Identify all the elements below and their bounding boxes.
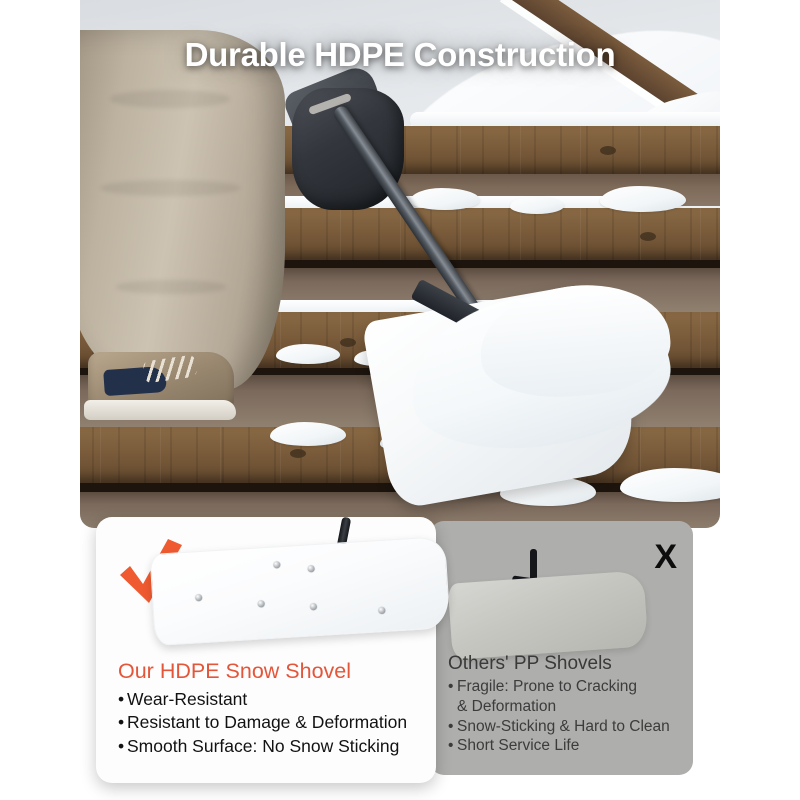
- ours-heading: Our HDPE Snow Shovel: [118, 659, 424, 684]
- others-bullet: •Fragile: Prone to Cracking: [448, 677, 681, 697]
- ours-text-block: Our HDPE Snow Shovel •Wear-Resistant •Re…: [118, 659, 424, 758]
- bullet-glyph: •: [448, 736, 457, 756]
- wood-knot: [290, 449, 306, 458]
- ours-bullet: •Resistant to Damage & Deformation: [118, 711, 424, 734]
- others-bullet-label: Snow-Sticking & Hard to Clean: [457, 718, 670, 735]
- blade-rivet: [195, 594, 202, 601]
- fabric-fold: [100, 180, 240, 196]
- snow-clump: [276, 344, 340, 364]
- ours-bullet-label: Smooth Surface: No Snow Sticking: [127, 736, 399, 756]
- ours-bullet-label: Resistant to Damage & Deformation: [127, 712, 407, 732]
- bullet-glyph: •: [448, 677, 457, 697]
- others-bullet-continuation: & Deformation: [448, 697, 681, 717]
- wood-knot: [340, 338, 356, 347]
- snow-clump: [620, 468, 720, 502]
- bullet-glyph: •: [118, 735, 127, 758]
- others-bullet-label: Short Service Life: [457, 737, 579, 754]
- x-mark-icon: X: [654, 540, 677, 574]
- snow-clump: [510, 196, 564, 214]
- others-bullet-label: Fragile: Prone to Cracking: [457, 678, 637, 695]
- blade-rivet: [378, 607, 385, 614]
- fabric-fold: [116, 280, 226, 294]
- others-bullet-label: & Deformation: [457, 698, 556, 715]
- others-text-block: Others' PP Shovels •Fragile: Prone to Cr…: [448, 653, 681, 756]
- snow-clump: [270, 422, 346, 446]
- comparison-panel-others: X Others' PP Shovels •Fragile: Prone to …: [430, 521, 693, 775]
- blade-rivet: [258, 600, 265, 607]
- bullet-glyph: •: [448, 717, 457, 737]
- sneaker-sole: [84, 400, 236, 420]
- gray-shovel-blade: [448, 570, 649, 659]
- blade-rivet: [307, 565, 314, 572]
- white-shovel-blade: [149, 536, 450, 646]
- others-heading: Others' PP Shovels: [448, 653, 681, 675]
- khaki-pants-leg: [80, 30, 285, 390]
- others-bullet: •Snow-Sticking & Hard to Clean: [448, 717, 681, 737]
- others-bullet: •Short Service Life: [448, 736, 681, 756]
- bullet-glyph: •: [118, 711, 127, 734]
- page-title: Durable HDPE Construction: [0, 36, 800, 74]
- ours-bullet: •Wear-Resistant: [118, 688, 424, 711]
- blade-rivet: [273, 561, 280, 568]
- hero-photo: [80, 0, 720, 528]
- blade-rivet: [310, 603, 317, 610]
- ours-bullet: •Smooth Surface: No Snow Sticking: [118, 735, 424, 758]
- snow-clump: [410, 188, 480, 210]
- comparison-panel-ours: Our HDPE Snow Shovel •Wear-Resistant •Re…: [96, 517, 436, 783]
- snow-clump: [600, 186, 686, 212]
- ours-bullet-label: Wear-Resistant: [127, 689, 247, 709]
- fabric-fold: [110, 90, 230, 108]
- wood-knot: [640, 232, 656, 241]
- white-hdpe-shovel-image: [152, 523, 452, 649]
- gray-pp-shovel-image: [446, 549, 646, 653]
- product-feature-image: Durable HDPE Construction X Others' PP S…: [0, 0, 800, 800]
- wood-knot: [600, 146, 616, 155]
- bullet-glyph: •: [118, 688, 127, 711]
